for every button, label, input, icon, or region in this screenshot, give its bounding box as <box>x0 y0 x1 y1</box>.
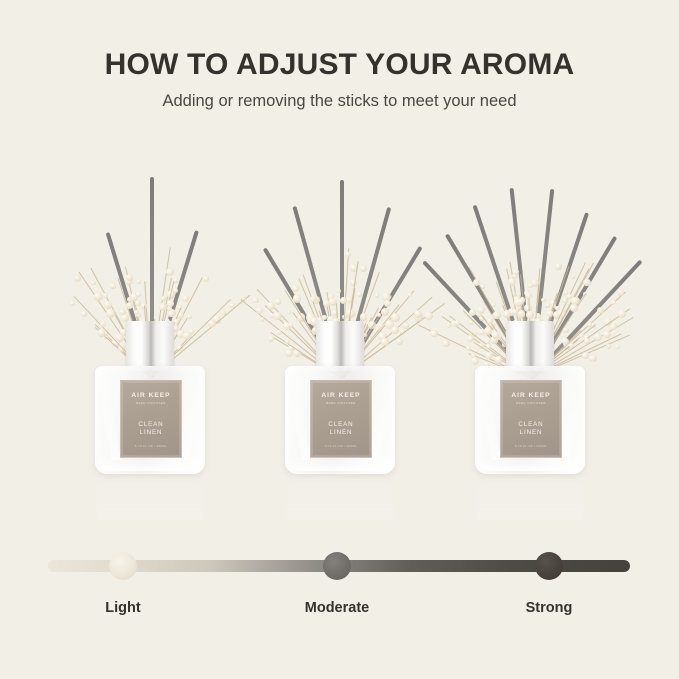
dried-flower <box>396 338 403 345</box>
dried-flower <box>119 309 125 315</box>
bottle-collar-icon <box>506 321 554 371</box>
dried-flower <box>285 339 290 344</box>
dried-flower <box>187 314 192 319</box>
dried-flower <box>484 327 492 335</box>
label-tagline: REED DIFFUSER <box>516 401 546 405</box>
dried-flower <box>173 288 178 293</box>
dried-flower <box>135 301 140 306</box>
product-moderate: AIR KEEP REED DIFFUSER CLEAN LINEN 6.76 … <box>235 118 445 518</box>
dried-flower <box>104 301 112 309</box>
glass-highlight-left <box>481 398 502 460</box>
dried-flower <box>260 317 265 322</box>
dried-flower <box>611 300 616 305</box>
dried-flower <box>587 322 592 327</box>
dried-flower <box>618 310 626 318</box>
dried-flower <box>268 335 274 341</box>
label-volume: 6.76 FL.OZ / 200ML <box>515 444 547 448</box>
bottle-label: AIR KEEP REED DIFFUSER CLEAN LINEN 6.76 … <box>500 380 562 458</box>
dried-flower <box>94 292 103 301</box>
dried-flower <box>167 306 172 311</box>
dried-flower <box>442 340 450 348</box>
bottle-label: AIR KEEP REED DIFFUSER CLEAN LINEN 6.76 … <box>310 380 372 458</box>
label-brand: AIR KEEP <box>131 392 170 399</box>
bottle-reflection <box>97 476 203 520</box>
dried-flower <box>277 330 281 334</box>
dried-flower <box>477 306 485 314</box>
page-subtitle: Adding or removing the sticks to meet yo… <box>0 92 679 111</box>
dried-flower <box>582 352 589 359</box>
slider-knob-strong[interactable] <box>535 552 563 580</box>
label-scent-line1: CLEAN <box>518 421 543 429</box>
label-scent-line1: CLEAN <box>328 421 353 429</box>
glass-highlight-left <box>101 398 122 460</box>
dried-flower <box>340 297 347 304</box>
dried-flower <box>275 298 282 305</box>
dried-flower <box>91 281 95 285</box>
dried-flower <box>546 303 550 307</box>
label-tagline: REED DIFFUSER <box>326 401 356 405</box>
dried-flower <box>70 301 75 306</box>
slider-knob-moderate[interactable] <box>323 552 351 580</box>
dried-flower <box>106 309 115 318</box>
glass-highlight-left <box>291 398 312 460</box>
dried-flower <box>182 295 189 302</box>
dried-flower <box>481 284 485 288</box>
dried-flower <box>495 356 502 363</box>
diffuser-bottle-light: AIR KEEP REED DIFFUSER CLEAN LINEN 6.76 … <box>95 366 205 476</box>
dried-flower <box>615 344 620 349</box>
diffuser-bottle-strong: AIR KEEP REED DIFFUSER CLEAN LINEN 6.76 … <box>475 366 585 476</box>
dried-flower <box>110 283 115 288</box>
dried-flower <box>357 292 362 297</box>
dried-flower <box>430 330 438 338</box>
dried-flower <box>563 327 569 333</box>
dried-flower <box>403 322 409 328</box>
bottle-collar-icon <box>126 321 174 371</box>
dried-flower <box>526 311 534 319</box>
dried-flower <box>252 297 258 303</box>
dried-flower <box>100 321 107 328</box>
dried-flower <box>203 275 210 282</box>
dried-flower <box>469 309 476 316</box>
diffuser-bottle-moderate: AIR KEEP REED DIFFUSER CLEAN LINEN 6.76 … <box>285 366 395 476</box>
label-brand: AIR KEEP <box>321 392 360 399</box>
dried-flower <box>381 338 389 346</box>
label-scent-line1: CLEAN <box>138 421 163 429</box>
dried-flower <box>485 352 493 360</box>
dried-flower <box>310 296 316 302</box>
label-tagline: REED DIFFUSER <box>136 401 166 405</box>
dried-flower <box>391 313 399 321</box>
label-brand: AIR KEEP <box>511 392 550 399</box>
dried-flower <box>487 318 493 324</box>
dried-flower <box>562 298 567 303</box>
dried-flower <box>256 307 263 314</box>
dried-flower <box>571 275 575 279</box>
dried-flower <box>137 279 142 284</box>
slider-label-strong: Strong <box>479 600 619 616</box>
label-volume: 6.76 FL.OZ / 200ML <box>135 444 167 448</box>
dried-flower <box>292 285 299 292</box>
dried-flower <box>518 310 525 317</box>
dried-flower <box>136 292 141 297</box>
dried-flower <box>589 355 596 362</box>
dried-flower <box>486 343 491 348</box>
dried-flower <box>230 303 235 308</box>
label-scent-line2: LINEN <box>520 429 543 437</box>
bottle-reflection <box>477 476 583 520</box>
infographic-canvas: HOW TO ADJUST YOUR AROMA Adding or remov… <box>0 0 679 679</box>
dried-flower <box>166 268 174 276</box>
dried-flower <box>610 323 617 330</box>
dried-flower <box>287 310 292 315</box>
slider-knob-light[interactable] <box>109 552 137 580</box>
dried-flower <box>345 252 351 258</box>
dried-flower <box>583 279 591 287</box>
dried-flower <box>508 278 516 286</box>
label-scent-line2: LINEN <box>330 429 353 437</box>
dried-flower <box>208 320 216 328</box>
dried-flower <box>547 310 553 316</box>
dried-flower <box>618 289 624 295</box>
bottle-collar-icon <box>316 321 364 371</box>
dried-flower <box>384 300 391 307</box>
dried-flower <box>606 344 611 349</box>
dried-flower <box>584 338 590 344</box>
dried-flower <box>241 296 245 300</box>
label-volume: 6.76 FL.OZ / 200ML <box>325 444 357 448</box>
dried-flower <box>491 302 496 307</box>
dried-flower <box>512 309 518 315</box>
slider-label-moderate: Moderate <box>267 600 407 616</box>
label-scent-line2: LINEN <box>140 429 163 437</box>
slider-label-light: Light <box>53 600 193 616</box>
dried-flower <box>562 338 569 345</box>
dried-flower <box>471 357 479 365</box>
dried-flower <box>555 263 561 269</box>
dried-flower <box>503 310 511 318</box>
product-light: AIR KEEP REED DIFFUSER CLEAN LINEN 6.76 … <box>45 118 255 518</box>
dried-flower <box>525 292 532 299</box>
dried-flower <box>360 265 367 272</box>
dried-flower <box>541 298 545 302</box>
dried-flower <box>603 331 611 339</box>
dried-flower <box>375 293 380 298</box>
bottle-label: AIR KEEP REED DIFFUSER CLEAN LINEN 6.76 … <box>120 380 182 458</box>
dried-flower <box>466 346 471 351</box>
dried-flower <box>285 349 293 357</box>
dried-flower <box>81 311 87 317</box>
dried-flower <box>329 298 337 306</box>
dried-flower <box>446 323 451 328</box>
dried-flower <box>408 293 412 297</box>
dried-flower <box>493 311 501 319</box>
page-title: HOW TO ADJUST YOUR AROMA <box>0 48 679 82</box>
product-strong: AIR KEEP REED DIFFUSER CLEAN LINEN 6.76 … <box>425 118 635 518</box>
dried-flower <box>74 275 81 282</box>
dried-flower <box>293 294 301 302</box>
dried-flower <box>570 304 578 312</box>
dried-flower <box>454 320 460 326</box>
dried-flower <box>174 278 178 282</box>
dried-flower <box>267 302 275 310</box>
bottle-reflection <box>287 476 393 520</box>
dried-flower <box>391 326 399 334</box>
